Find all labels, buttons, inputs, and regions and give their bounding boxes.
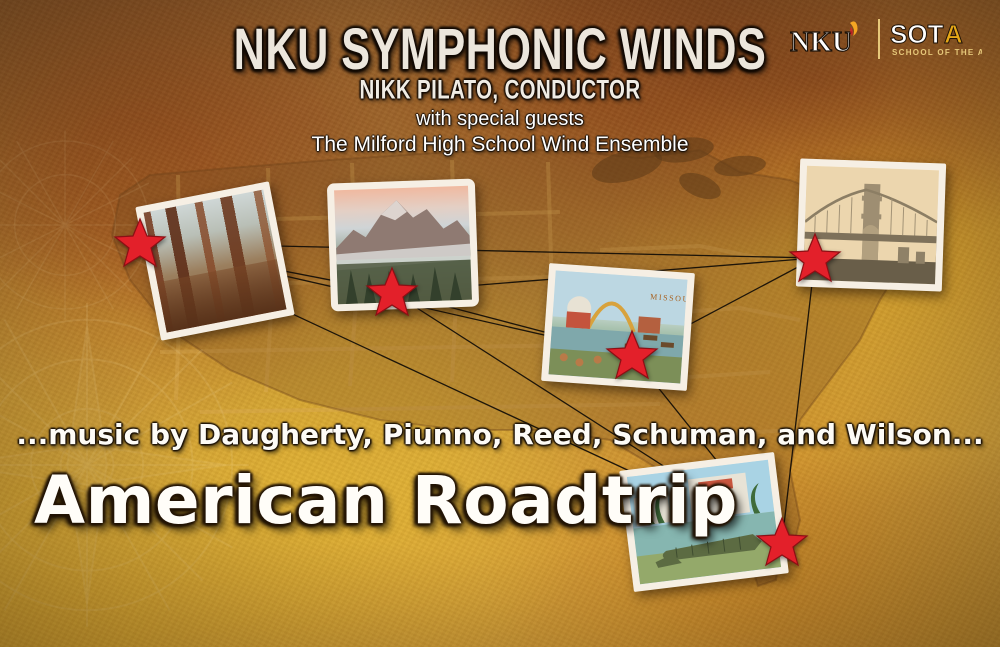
guest-intro-label: with special guests	[0, 108, 1000, 131]
svg-text:SOT: SOT	[890, 19, 944, 49]
marker-newyork-star-icon	[788, 231, 842, 285]
composers-line: ...music by Daugherty, Piunno, Reed, Sch…	[0, 418, 1000, 451]
svg-text:NKU: NKU	[790, 27, 852, 58]
nku-sota-logo: NKU SOT A SCHOOL OF THE ARTS	[790, 16, 982, 62]
logo-divider	[877, 19, 881, 59]
guest-ensemble-name: The Milford High School Wind Ensemble	[0, 133, 1000, 157]
conductor-name: NIKK PILATO, CONDUCTOR	[35, 74, 965, 106]
svg-text:A: A	[944, 19, 963, 49]
nku-wordmark-icon: NKU	[790, 17, 868, 61]
marker-missouri-star-icon	[605, 328, 659, 382]
marker-california-star-icon	[113, 216, 167, 270]
marker-florida-star-icon	[755, 515, 809, 569]
sota-wordmark-icon: SOT A SCHOOL OF THE ARTS	[890, 17, 982, 61]
svg-text:SCHOOL OF THE ARTS: SCHOOL OF THE ARTS	[892, 48, 982, 57]
marker-colorado-star-icon	[365, 265, 419, 319]
concert-title: American Roadtrip	[34, 462, 738, 539]
concert-poster: MISSOURI	[0, 0, 1000, 647]
